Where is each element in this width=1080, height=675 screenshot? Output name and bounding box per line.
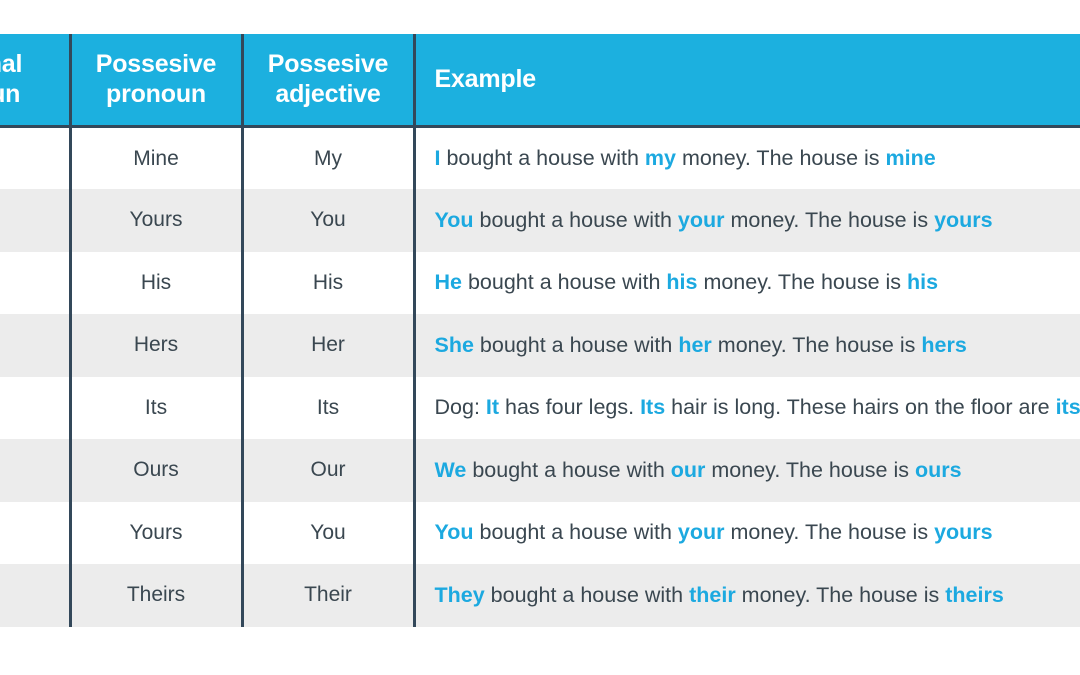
- table-row: HeHisHisHe bought a house with his money…: [0, 252, 1080, 315]
- cell-possesive-pronoun: Ours: [70, 439, 242, 502]
- cell-example: We bought a house with our money. The ho…: [414, 439, 1080, 502]
- example-highlight-token: theirs: [945, 583, 1004, 607]
- table-row: ItItsItsDog: It has four legs. Its hair …: [0, 377, 1080, 440]
- example-highlight-token: ours: [915, 458, 962, 482]
- cell-possesive-adjective: Her: [242, 314, 414, 377]
- example-text-token: bought a house with: [466, 458, 670, 482]
- cell-possesive-adjective: Its: [242, 377, 414, 440]
- example-text-token: bought a house with: [462, 270, 666, 294]
- cell-personal-pronoun: You: [0, 502, 70, 565]
- example-text-token: bought a house with: [485, 583, 689, 607]
- example-highlight-token: their: [689, 583, 736, 607]
- example-text-token: money. The house is: [705, 458, 915, 482]
- example-text-token: bought a house with: [474, 208, 678, 232]
- example-highlight-token: his: [907, 270, 938, 294]
- example-highlight-token: She: [435, 333, 474, 357]
- cell-possesive-pronoun: Mine: [70, 127, 242, 190]
- example-highlight-token: its: [1056, 395, 1080, 419]
- cell-personal-pronoun: They: [0, 564, 70, 627]
- cell-possesive-pronoun: Yours: [70, 189, 242, 252]
- example-text-token: bought a house with: [474, 333, 678, 357]
- cell-example: She bought a house with her money. The h…: [414, 314, 1080, 377]
- example-highlight-token: We: [435, 458, 467, 482]
- example-text-token: bought a house with: [440, 146, 644, 170]
- cell-possesive-pronoun: Hers: [70, 314, 242, 377]
- cell-example: They bought a house with their money. Th…: [414, 564, 1080, 627]
- example-text-token: money. The house is: [697, 270, 907, 294]
- example-text-token: money. The house is: [736, 583, 946, 607]
- example-text-token: has four legs.: [499, 395, 640, 419]
- cell-example: I bought a house with my money. The hous…: [414, 127, 1080, 190]
- example-highlight-token: They: [435, 583, 485, 607]
- table-viewport: Personal pronoun Possesive pronoun Posse…: [0, 0, 1080, 675]
- cell-personal-pronoun: She: [0, 314, 70, 377]
- column-header-possesive-adjective: Possesive adjective: [242, 34, 414, 127]
- table-row: YouYoursYouYou bought a house with your …: [0, 189, 1080, 252]
- cell-possesive-pronoun: Theirs: [70, 564, 242, 627]
- cell-personal-pronoun: It: [0, 377, 70, 440]
- column-header-personal-pronoun: Personal pronoun: [0, 34, 70, 127]
- cell-possesive-adjective: You: [242, 502, 414, 565]
- example-highlight-token: mine: [886, 146, 936, 170]
- cell-example: You bought a house with your money. The …: [414, 189, 1080, 252]
- example-highlight-token: He: [435, 270, 462, 294]
- cell-personal-pronoun: I: [0, 127, 70, 190]
- cell-possesive-pronoun: His: [70, 252, 242, 315]
- example-highlight-token: Its: [640, 395, 665, 419]
- example-highlight-token: my: [645, 146, 676, 170]
- table-row: WeOursOurWe bought a house with our mone…: [0, 439, 1080, 502]
- example-text-token: money. The house is: [725, 208, 935, 232]
- example-text-token: money. The house is: [725, 520, 935, 544]
- cell-possesive-adjective: My: [242, 127, 414, 190]
- table-row: YouYoursYouYou bought a house with your …: [0, 502, 1080, 565]
- cell-possesive-pronoun: Its: [70, 377, 242, 440]
- header-row: Personal pronoun Possesive pronoun Posse…: [0, 34, 1080, 127]
- example-highlight-token: her: [678, 333, 711, 357]
- cell-possesive-pronoun: Yours: [70, 502, 242, 565]
- example-highlight-token: our: [671, 458, 706, 482]
- example-highlight-token: It: [486, 395, 499, 419]
- example-highlight-token: your: [678, 208, 725, 232]
- cell-possesive-adjective: Their: [242, 564, 414, 627]
- cell-personal-pronoun: We: [0, 439, 70, 502]
- example-highlight-token: yours: [934, 520, 993, 544]
- table-body: IMineMyI bought a house with my money. T…: [0, 127, 1080, 627]
- example-text-token: hair is long. These hairs on the floor a…: [665, 395, 1055, 419]
- example-highlight-token: your: [678, 520, 725, 544]
- example-text-token: money. The house is: [712, 333, 922, 357]
- example-highlight-token: his: [666, 270, 697, 294]
- table-row: TheyTheirsTheirThey bought a house with …: [0, 564, 1080, 627]
- cell-example: Dog: It has four legs. Its hair is long.…: [414, 377, 1080, 440]
- example-text-token: bought a house with: [474, 520, 678, 544]
- table-row: IMineMyI bought a house with my money. T…: [0, 127, 1080, 190]
- cell-possesive-adjective: You: [242, 189, 414, 252]
- cell-possesive-adjective: Our: [242, 439, 414, 502]
- example-highlight-token: hers: [921, 333, 966, 357]
- example-highlight-token: yours: [934, 208, 993, 232]
- cell-personal-pronoun: You: [0, 189, 70, 252]
- example-highlight-token: You: [435, 208, 474, 232]
- cell-example: He bought a house with his money. The ho…: [414, 252, 1080, 315]
- example-text-token: Dog:: [435, 395, 486, 419]
- column-header-example: Example: [414, 34, 1080, 127]
- cell-example: You bought a house with your money. The …: [414, 502, 1080, 565]
- pronoun-reference-table: Personal pronoun Possesive pronoun Posse…: [0, 34, 1080, 627]
- table-row: SheHersHerShe bought a house with her mo…: [0, 314, 1080, 377]
- example-text-token: money. The house is: [676, 146, 886, 170]
- column-header-possesive-pronoun: Possesive pronoun: [70, 34, 242, 127]
- cell-personal-pronoun: He: [0, 252, 70, 315]
- table-header: Personal pronoun Possesive pronoun Posse…: [0, 34, 1080, 127]
- example-highlight-token: You: [435, 520, 474, 544]
- cell-possesive-adjective: His: [242, 252, 414, 315]
